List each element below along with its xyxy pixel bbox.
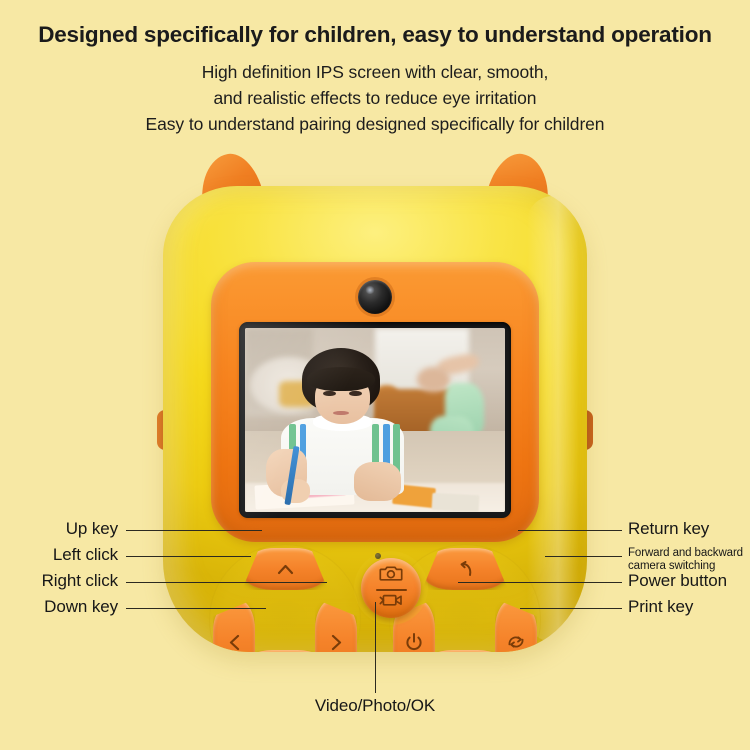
leader-line-up-key bbox=[126, 530, 262, 531]
callout-left-click: Left click bbox=[0, 545, 118, 565]
chevron-right-icon bbox=[331, 634, 342, 651]
camera-switch-key[interactable] bbox=[495, 599, 537, 652]
camera-switch-icon bbox=[506, 633, 526, 651]
leader-line-left-click bbox=[126, 556, 251, 557]
callout-return-key: Return key bbox=[628, 519, 709, 539]
return-arrow-icon bbox=[456, 561, 474, 577]
callout-print-key: Print key bbox=[628, 597, 693, 617]
camera-device bbox=[163, 152, 587, 652]
leader-line-power-button bbox=[458, 582, 622, 583]
led-dot-icon bbox=[375, 553, 381, 559]
leader-line-print-key bbox=[520, 608, 622, 609]
leader-line-right-click bbox=[126, 582, 327, 583]
callout-right-click: Right click bbox=[0, 571, 118, 591]
chevron-left-icon bbox=[229, 634, 240, 651]
center-shutter-key[interactable] bbox=[361, 558, 421, 618]
shutter-divider bbox=[376, 589, 407, 591]
product-feature-diagram: Designed specifically for children, easy… bbox=[0, 0, 750, 750]
subtitle-line-3: Easy to understand pairing designed spec… bbox=[0, 114, 750, 135]
screen-bezel bbox=[211, 262, 539, 542]
dpad-left-key[interactable] bbox=[213, 599, 255, 652]
subtitle-line-2: and realistic effects to reduce eye irri… bbox=[0, 88, 750, 109]
return-key[interactable] bbox=[422, 548, 508, 590]
callout-power-button: Power button bbox=[628, 571, 727, 591]
power-icon bbox=[406, 633, 422, 651]
dpad-up-key[interactable] bbox=[242, 548, 328, 590]
video-camera-icon bbox=[379, 593, 403, 612]
lens-icon bbox=[358, 280, 392, 314]
dpad-cluster bbox=[209, 544, 361, 652]
dpad-right-key[interactable] bbox=[315, 599, 357, 652]
page-title: Designed specifically for children, easy… bbox=[0, 22, 750, 48]
callout-camera-switching: Forward and backward camera switching bbox=[628, 547, 750, 573]
chevron-up-icon bbox=[277, 564, 294, 575]
callout-up-key: Up key bbox=[0, 519, 118, 539]
callout-down-key: Down key bbox=[0, 597, 118, 617]
leader-line-center-key bbox=[375, 602, 376, 693]
lcd-screen bbox=[239, 322, 511, 518]
subtitle-line-1: High definition IPS screen with clear, s… bbox=[0, 62, 750, 83]
leader-line-return-key bbox=[518, 530, 622, 531]
leader-line-down-key bbox=[126, 608, 266, 609]
callout-video-photo-ok: Video/Photo/OK bbox=[0, 696, 750, 716]
leader-line-camera-switch bbox=[545, 556, 622, 557]
photo-camera-icon bbox=[379, 565, 403, 587]
screen-photo bbox=[245, 328, 505, 512]
